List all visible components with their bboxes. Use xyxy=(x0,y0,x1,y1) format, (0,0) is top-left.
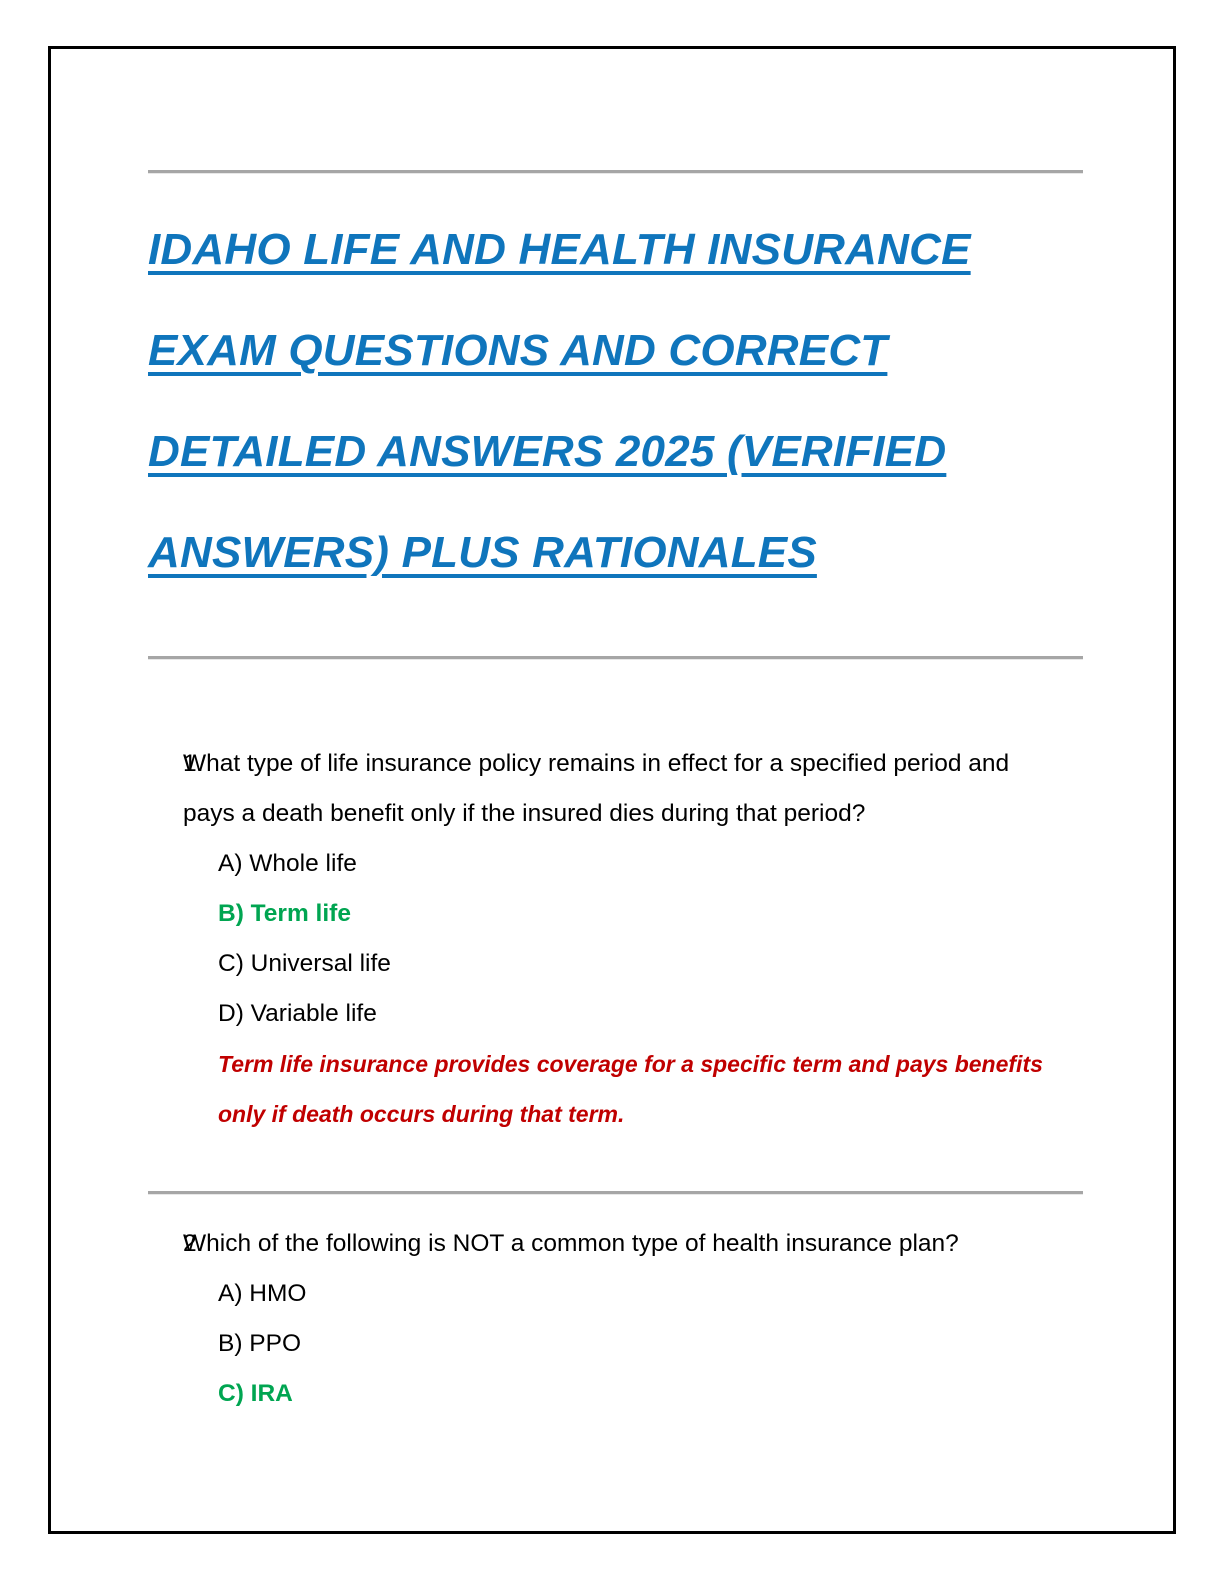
question-heading-row: 2. Which of the following is NOT a commo… xyxy=(148,1219,1048,1269)
page-title: IDAHO LIFE AND HEALTH INSURANCE EXAM QUE… xyxy=(148,199,1028,603)
question-item: 1. What type of life insurance policy re… xyxy=(148,739,1048,1139)
answer-rationale: Term life insurance provides coverage fo… xyxy=(148,1039,1048,1139)
divider-below-title xyxy=(148,656,1083,660)
divider-above-title xyxy=(148,170,1083,174)
answer-choice-list: A) HMO B) PPO C) IRA xyxy=(148,1269,1048,1419)
answer-choice-d[interactable]: D) Variable life xyxy=(148,989,1048,1039)
question-item: 2. Which of the following is NOT a commo… xyxy=(148,1219,1048,1419)
answer-choice-c[interactable]: C) Universal life xyxy=(148,939,1048,989)
question-number: 1. xyxy=(148,739,183,789)
title-line-3: DETAILED ANSWERS 2025 (VERIFIED xyxy=(148,401,1028,502)
question-text: What type of life insurance policy remai… xyxy=(183,739,1013,839)
answer-choice-a[interactable]: A) Whole life xyxy=(148,839,1048,889)
answer-choice-c-correct[interactable]: C) IRA xyxy=(148,1369,1048,1419)
title-line-4: ANSWERS) PLUS RATIONALES xyxy=(148,502,1028,603)
question-heading-row: 1. What type of life insurance policy re… xyxy=(148,739,1048,839)
divider-between-questions xyxy=(148,1191,1083,1195)
question-number: 2. xyxy=(148,1219,183,1269)
page-border: IDAHO LIFE AND HEALTH INSURANCE EXAM QUE… xyxy=(48,46,1176,1534)
title-line-1: IDAHO LIFE AND HEALTH INSURANCE xyxy=(148,199,1028,300)
answer-choice-b[interactable]: B) PPO xyxy=(148,1319,1048,1369)
title-line-2: EXAM QUESTIONS AND CORRECT xyxy=(148,300,1028,401)
question-text: Which of the following is NOT a common t… xyxy=(183,1219,1013,1269)
answer-choice-a[interactable]: A) HMO xyxy=(148,1269,1048,1319)
answer-choice-list: A) Whole life B) Term life C) Universal … xyxy=(148,839,1048,1039)
document-page: IDAHO LIFE AND HEALTH INSURANCE EXAM QUE… xyxy=(0,0,1224,1584)
answer-choice-b-correct[interactable]: B) Term life xyxy=(148,889,1048,939)
